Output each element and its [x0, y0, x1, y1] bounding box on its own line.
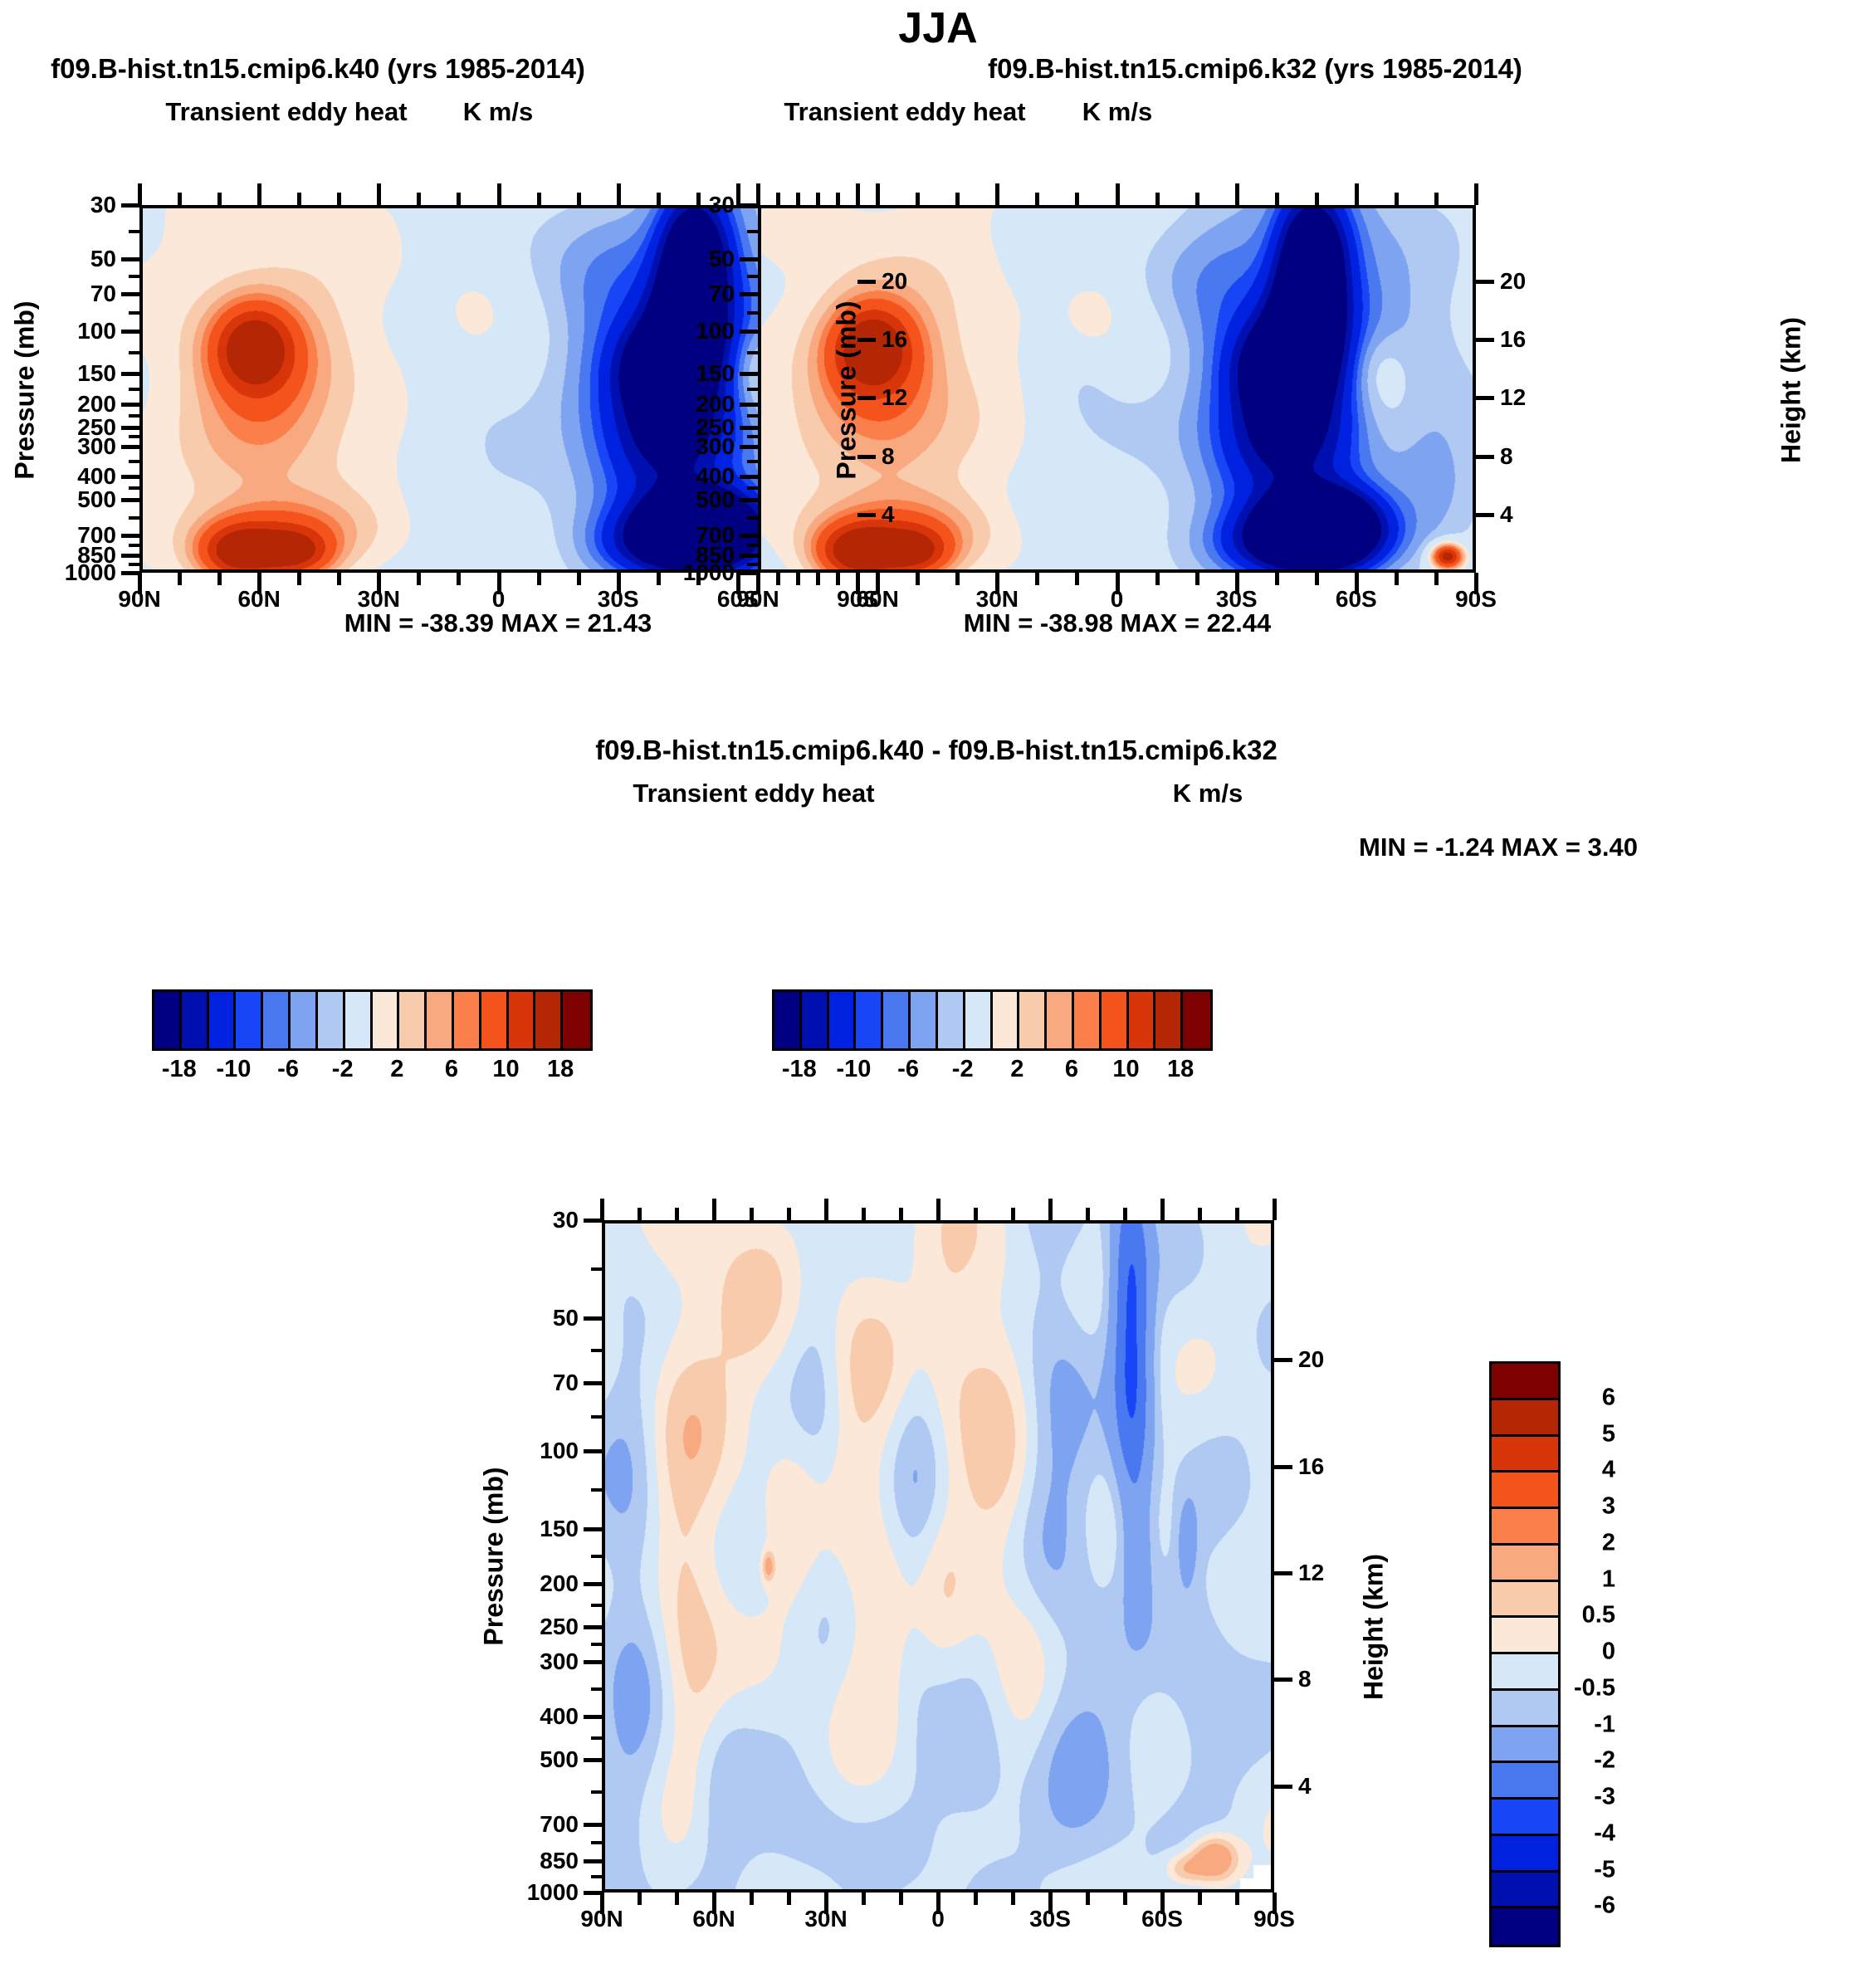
pressure-tick-label: 1000	[683, 559, 735, 586]
pressure-tick-label: 30	[709, 192, 735, 218]
colorbar-cell	[1492, 1727, 1558, 1764]
lat-tick-label: 60N	[692, 1906, 735, 1932]
bottom-axis-tick	[816, 573, 820, 585]
lat-tick-label: 60S	[1336, 586, 1377, 613]
colorbar-tick-label: 0	[1602, 1639, 1615, 1666]
top-axis-tick	[1155, 193, 1160, 205]
pressure-minor-tick	[591, 1604, 602, 1607]
bottom-axis-tick	[675, 1893, 679, 1905]
minmax-top-left: MIN = -38.39 MAX = 21.43	[344, 608, 652, 638]
lat-tick-label: 0	[492, 586, 506, 613]
colorbar-cell	[1492, 1546, 1558, 1582]
pressure-tick	[740, 257, 758, 261]
bottom-axis-tick	[1123, 1893, 1127, 1905]
pressure-tick	[740, 203, 758, 208]
bottom-axis-tick	[1195, 573, 1199, 585]
pressure-tick-label: 400	[540, 1703, 579, 1730]
pressure-minor-tick	[129, 544, 139, 547]
pressure-minor-tick	[591, 1687, 602, 1691]
lat-tick-label: 90S	[1253, 1906, 1295, 1932]
pressure-tick-label: 300	[696, 433, 735, 460]
top-axis-tick	[600, 1199, 604, 1220]
colorbar-cell	[1492, 1437, 1558, 1473]
pressure-tick	[121, 372, 139, 376]
pressure-tick-label: 100	[77, 318, 116, 344]
colorbar-tick-label: -6	[897, 1056, 919, 1083]
colorbar-tick-label: -2	[1594, 1747, 1615, 1775]
top-axis-tick	[1160, 1199, 1165, 1220]
pressure-tick	[121, 403, 139, 407]
top-axis-tick	[178, 193, 182, 205]
pressure-tick-label: 30	[553, 1207, 579, 1233]
contour-plot-top-right[interactable]	[758, 205, 1476, 573]
top-axis-tick	[1086, 1208, 1090, 1220]
colorbar-cell	[1492, 1763, 1558, 1800]
top-axis-tick	[1075, 193, 1079, 205]
colorbar-cell	[1102, 992, 1129, 1048]
pressure-tick	[584, 1891, 602, 1895]
bottom-axis-tick	[776, 573, 780, 585]
units-label-top-left: K m/s	[463, 97, 533, 127]
pressure-tick	[584, 1758, 602, 1762]
height-tick-label: 16	[1500, 326, 1526, 353]
height-tick	[1274, 1465, 1292, 1469]
colorbar-cell	[1492, 1364, 1558, 1400]
bottom-axis-tick	[657, 573, 661, 585]
colorbar-cell	[965, 992, 993, 1048]
colorbar-cell	[345, 992, 373, 1048]
pressure-tick	[740, 372, 758, 376]
pressure-tick	[121, 475, 139, 479]
pressure-minor-tick	[129, 563, 139, 566]
pressure-minor-tick	[747, 563, 758, 566]
pressure-tick-label: 300	[540, 1648, 579, 1675]
pressure-tick	[740, 330, 758, 334]
top-axis-tick	[217, 193, 222, 205]
height-tick	[857, 513, 876, 517]
pressure-tick	[740, 534, 758, 538]
pressure-minor-tick	[591, 1267, 602, 1271]
pressure-tick-label: 70	[709, 281, 735, 307]
pressure-tick	[121, 292, 139, 296]
top-axis-tick	[577, 193, 581, 205]
bottom-axis-tick	[836, 573, 840, 585]
top-axis-tick	[862, 1208, 866, 1220]
bottom-axis-tick	[787, 1893, 791, 1905]
pressure-minor-tick	[129, 414, 139, 418]
pressure-tick	[740, 426, 758, 430]
units-label-bottom: K m/s	[1173, 779, 1243, 808]
bottom-axis-tick	[1315, 573, 1319, 585]
panel-title-top-right: f09.B-hist.tn15.cmip6.k32 (yrs 1985-2014…	[988, 53, 1522, 85]
pressure-tick-label: 850	[540, 1848, 579, 1874]
minmax-bottom: MIN = -1.24 MAX = 3.40	[1359, 833, 1638, 862]
pressure-tick-label: 500	[540, 1746, 579, 1773]
pressure-tick-label: 250	[540, 1614, 579, 1640]
colorbar-cell	[535, 992, 563, 1048]
pressure-minor-tick	[129, 388, 139, 391]
bottom-axis-tick	[577, 573, 581, 585]
colorbar-cell	[883, 992, 911, 1048]
pressure-tick-label: 500	[77, 486, 116, 513]
top-axis-tick	[297, 193, 301, 205]
colorbar-top-left[interactable]	[152, 989, 593, 1051]
top-axis-tick	[675, 1208, 679, 1220]
pressure-tick	[584, 1219, 602, 1223]
bottom-axis-tick	[750, 1893, 754, 1905]
height-tick-label: 12	[1298, 1560, 1324, 1586]
page-title: JJA	[898, 3, 977, 53]
colorbar-cell	[263, 992, 291, 1048]
bottom-axis-tick	[1395, 573, 1399, 585]
pressure-minor-tick	[591, 1841, 602, 1844]
top-axis-tick	[1011, 1208, 1015, 1220]
colorbar-cell	[1492, 1473, 1558, 1509]
pressure-tick	[740, 498, 758, 502]
height-tick-label: 8	[1298, 1666, 1312, 1692]
top-axis-tick	[657, 193, 661, 205]
height-tick	[1274, 1678, 1292, 1682]
colorbar-tick-label: -18	[162, 1056, 197, 1083]
height-tick	[1476, 280, 1494, 284]
bottom-axis-tick	[1275, 573, 1279, 585]
bottom-axis-tick	[1235, 1893, 1239, 1905]
colorbar-cell	[1129, 992, 1156, 1048]
pressure-tick	[121, 498, 139, 502]
colorbar-cell	[829, 992, 857, 1048]
bottom-axis-tick	[537, 573, 541, 585]
panel-title-bottom: f09.B-hist.tn15.cmip6.k40 - f09.B-hist.t…	[595, 735, 1278, 766]
colorbar-cell	[993, 992, 1020, 1048]
pressure-tick-label: 1000	[527, 1879, 579, 1906]
pressure-minor-tick	[747, 516, 758, 520]
top-axis-tick	[1048, 1199, 1053, 1220]
bottom-axis-tick	[1086, 1893, 1090, 1905]
colorbar-tick-label: -18	[782, 1056, 817, 1083]
lat-tick-label: 0	[1111, 586, 1124, 613]
top-axis-tick	[457, 193, 461, 205]
pressure-tick	[740, 554, 758, 558]
pressure-tick	[584, 1449, 602, 1453]
colorbar-cell	[1492, 1618, 1558, 1654]
pressure-tick	[121, 257, 139, 261]
pressure-tick-label: 70	[553, 1370, 579, 1396]
top-axis-tick	[1235, 183, 1239, 205]
pressure-minor-tick	[747, 351, 758, 354]
top-axis-tick	[916, 193, 920, 205]
top-axis-tick	[1434, 193, 1439, 205]
height-tick	[1476, 396, 1494, 400]
top-axis-tick	[257, 183, 261, 205]
units-label-top-right: K m/s	[1082, 97, 1152, 127]
colorbar-cell	[209, 992, 237, 1048]
bottom-axis-tick	[337, 573, 341, 585]
colorbar-cell	[802, 992, 829, 1048]
bottom-axis-tick	[1198, 1893, 1202, 1905]
height-tick	[1476, 338, 1494, 342]
bottom-axis-tick	[297, 573, 301, 585]
colorbar-tick-label: -10	[836, 1056, 871, 1083]
top-axis-tick	[138, 183, 142, 205]
top-axis-tick	[638, 1208, 642, 1220]
pressure-tick-label: 500	[696, 486, 735, 513]
height-tick-label: 16	[882, 326, 907, 353]
colorbar-cell	[182, 992, 209, 1048]
pressure-tick	[121, 445, 139, 449]
colorbar-tick-label: -2	[332, 1056, 354, 1083]
pressure-minor-tick	[747, 460, 758, 463]
colorbar-cell	[911, 992, 938, 1048]
colorbar-cell	[427, 992, 454, 1048]
bottom-axis-tick	[1075, 573, 1079, 585]
colorbar-tick-label: 18	[1167, 1056, 1194, 1083]
colorbar-top-right[interactable]	[772, 989, 1213, 1051]
pressure-minor-tick	[129, 435, 139, 438]
height-tick	[1274, 1785, 1292, 1789]
lat-tick-label: 90N	[118, 586, 160, 613]
top-axis-tick	[1395, 193, 1399, 205]
bottom-axis-tick	[862, 1893, 866, 1905]
colorbar-tick-label: -5	[1594, 1856, 1615, 1883]
colorbar-cell	[509, 992, 536, 1048]
colorbar-tick-label: 5	[1602, 1420, 1615, 1448]
lat-tick-label: 60S	[1141, 1906, 1183, 1932]
top-axis-tick	[936, 1199, 940, 1220]
pressure-minor-tick	[591, 1349, 602, 1352]
colorbar-tick-label: 1	[1602, 1565, 1615, 1593]
height-tick	[857, 455, 876, 459]
pressure-minor-tick	[747, 275, 758, 278]
height-tick	[857, 396, 876, 400]
contour-plot-bottom-diff[interactable]	[602, 1220, 1274, 1893]
pressure-tick	[121, 203, 139, 208]
bottom-axis-tick	[1011, 1893, 1015, 1905]
colorbar-cell	[1155, 992, 1183, 1048]
bottom-axis-tick	[899, 1893, 903, 1905]
lat-tick-label: 30N	[358, 586, 400, 613]
bottom-axis-tick	[1434, 573, 1439, 585]
height-tick	[857, 338, 876, 342]
pressure-tick-label: 1000	[65, 559, 116, 586]
top-axis-tick	[497, 183, 501, 205]
pressure-tick	[121, 534, 139, 538]
pressure-minor-tick	[591, 1875, 602, 1878]
pressure-tick-label: 200	[696, 391, 735, 418]
height-tick-label: 8	[882, 443, 895, 470]
colorbar-tick-label: 2	[390, 1056, 403, 1083]
top-axis-tick	[1474, 183, 1478, 205]
pressure-tick	[121, 554, 139, 558]
top-axis-tick	[750, 1208, 754, 1220]
bottom-axis-tick	[1155, 573, 1160, 585]
colorbar-tick-label: 10	[1112, 1056, 1139, 1083]
top-axis-tick	[337, 193, 341, 205]
colorbar-bottom-diff[interactable]	[1489, 1361, 1561, 1947]
lat-tick-label: 30S	[1216, 586, 1258, 613]
pressure-tick	[584, 1527, 602, 1531]
pressure-minor-tick	[129, 351, 139, 354]
top-axis-tick	[796, 193, 800, 205]
ylabel-pressure-top-left: Pressure (mb)	[10, 300, 41, 479]
pressure-minor-tick	[591, 1736, 602, 1740]
pressure-tick-label: 200	[77, 391, 116, 418]
colorbar-tick-label: -2	[952, 1056, 974, 1083]
colorbar-cell	[318, 992, 345, 1048]
pressure-tick-label: 700	[540, 1811, 579, 1838]
colorbar-tick-label: -6	[1594, 1893, 1615, 1920]
pressure-tick-label: 70	[90, 281, 116, 307]
colorbar-tick-label: -0.5	[1574, 1674, 1615, 1702]
pressure-minor-tick	[747, 388, 758, 391]
field-title-top-left: Transient eddy heat	[165, 97, 407, 127]
colorbar-tick-label: -6	[277, 1056, 299, 1083]
colorbar-cell	[154, 992, 182, 1048]
top-axis-tick	[836, 193, 840, 205]
pressure-tick	[121, 426, 139, 430]
bottom-axis-tick	[974, 1893, 978, 1905]
colorbar-cell	[1047, 992, 1074, 1048]
pressure-tick-label: 50	[90, 246, 116, 272]
colorbar-cell	[1492, 1800, 1558, 1836]
pressure-tick-label: 100	[696, 318, 735, 344]
pressure-minor-tick	[591, 1643, 602, 1646]
colorbar-tick-label: 18	[547, 1056, 574, 1083]
height-tick-label: 20	[1500, 268, 1526, 295]
top-axis-tick	[377, 183, 381, 205]
lat-tick-label: 30N	[804, 1906, 847, 1932]
height-tick-label: 16	[1298, 1453, 1324, 1480]
height-tick	[857, 280, 876, 284]
pressure-tick-label: 300	[77, 433, 116, 460]
colorbar-tick-label: 0.5	[1582, 1602, 1615, 1629]
lat-tick-label: 30S	[598, 586, 639, 613]
top-axis-tick	[1198, 1208, 1202, 1220]
bottom-axis-tick	[457, 573, 461, 585]
pressure-minor-tick	[591, 1790, 602, 1794]
ylabel-height-bottom: Height (km)	[1359, 1554, 1390, 1700]
top-axis-tick	[955, 193, 960, 205]
top-axis-tick	[1273, 1199, 1277, 1220]
pressure-minor-tick	[747, 544, 758, 547]
colorbar-cell	[1492, 1908, 1558, 1945]
pressure-tick	[584, 1859, 602, 1863]
pressure-tick-label: 200	[540, 1570, 579, 1597]
colorbar-tick-label: 3	[1602, 1493, 1615, 1521]
colorbar-cell	[1492, 1509, 1558, 1546]
figure-root: JJA f09.B-hist.tn15.cmip6.k40 (yrs 1985-…	[0, 0, 1876, 1978]
top-axis-tick	[1275, 193, 1279, 205]
height-tick-label: 20	[882, 268, 907, 295]
colorbar-cell	[236, 992, 263, 1048]
pressure-tick	[584, 1823, 602, 1827]
top-axis-tick	[787, 1208, 791, 1220]
panel-title-top-left: f09.B-hist.tn15.cmip6.k40 (yrs 1985-2014…	[51, 53, 585, 85]
height-tick-label: 4	[1500, 501, 1513, 528]
bottom-axis-tick	[916, 573, 920, 585]
pressure-minor-tick	[129, 460, 139, 463]
pressure-tick	[584, 1715, 602, 1719]
pressure-tick	[584, 1381, 602, 1385]
colorbar-tick-label: -1	[1594, 1711, 1615, 1738]
colorbar-cell	[454, 992, 481, 1048]
pressure-tick-label: 30	[90, 192, 116, 218]
pressure-minor-tick	[591, 1555, 602, 1558]
colorbar-cell	[938, 992, 965, 1048]
colorbar-cell	[481, 992, 509, 1048]
height-tick-label: 4	[882, 501, 895, 528]
height-tick	[1476, 513, 1494, 517]
colorbar-tick-label: 6	[1065, 1056, 1078, 1083]
bottom-axis-tick	[638, 1893, 642, 1905]
height-tick-label: 12	[1500, 384, 1526, 411]
colorbar-tick-label: 4	[1602, 1457, 1615, 1484]
height-tick	[1476, 455, 1494, 459]
pressure-minor-tick	[747, 311, 758, 315]
pressure-tick-label: 50	[553, 1305, 579, 1331]
pressure-tick	[584, 1582, 602, 1586]
top-axis-tick	[712, 1199, 716, 1220]
pressure-minor-tick	[129, 486, 139, 490]
pressure-tick	[584, 1316, 602, 1321]
top-axis-tick	[816, 193, 820, 205]
lat-tick-label: 60N	[856, 586, 898, 613]
colorbar-tick-label: 6	[1602, 1384, 1615, 1411]
pressure-tick	[740, 445, 758, 449]
colorbar-cell	[1492, 1400, 1558, 1437]
top-axis-tick	[856, 183, 860, 205]
colorbar-cell	[774, 992, 802, 1048]
pressure-minor-tick	[129, 516, 139, 520]
ylabel-pressure-top-right: Pressure (mb)	[832, 300, 862, 479]
top-axis-tick	[1235, 1208, 1239, 1220]
lat-tick-label: 90N	[736, 586, 779, 613]
colorbar-cell	[1492, 1873, 1558, 1909]
top-axis-tick	[974, 1208, 978, 1220]
pressure-tick-label: 150	[540, 1516, 579, 1542]
bottom-axis-tick	[178, 573, 182, 585]
pressure-tick	[740, 403, 758, 407]
lat-tick-label: 0	[931, 1906, 945, 1932]
bottom-axis-tick	[1035, 573, 1039, 585]
bottom-axis-tick	[217, 573, 222, 585]
pressure-minor-tick	[591, 1415, 602, 1419]
colorbar-tick-label: 10	[492, 1056, 519, 1083]
top-axis-tick	[537, 193, 541, 205]
top-axis-tick	[995, 183, 999, 205]
colorbar-tick-label: 2	[1602, 1529, 1615, 1556]
pressure-minor-tick	[129, 311, 139, 315]
ylabel-height-top-right: Height (km)	[1776, 317, 1807, 463]
colorbar-cell	[563, 992, 590, 1048]
top-axis-tick	[1035, 193, 1039, 205]
ylabel-pressure-bottom: Pressure (mb)	[479, 1467, 510, 1645]
bottom-axis-tick	[796, 573, 800, 585]
pressure-tick-label: 100	[540, 1438, 579, 1464]
top-axis-tick	[1195, 193, 1199, 205]
pressure-minor-tick	[129, 275, 139, 278]
colorbar-tick-label: -4	[1594, 1819, 1615, 1847]
pressure-minor-tick	[591, 1488, 602, 1492]
pressure-tick-label: 50	[709, 246, 735, 272]
bottom-axis-tick	[417, 573, 421, 585]
lat-tick-label: 90N	[580, 1906, 623, 1932]
colorbar-cell	[1019, 992, 1047, 1048]
height-tick-label: 4	[1298, 1773, 1312, 1800]
colorbar-cell	[399, 992, 427, 1048]
lat-tick-label: 60N	[237, 586, 280, 613]
colorbar-cell	[1492, 1654, 1558, 1691]
height-tick	[1274, 1358, 1292, 1362]
